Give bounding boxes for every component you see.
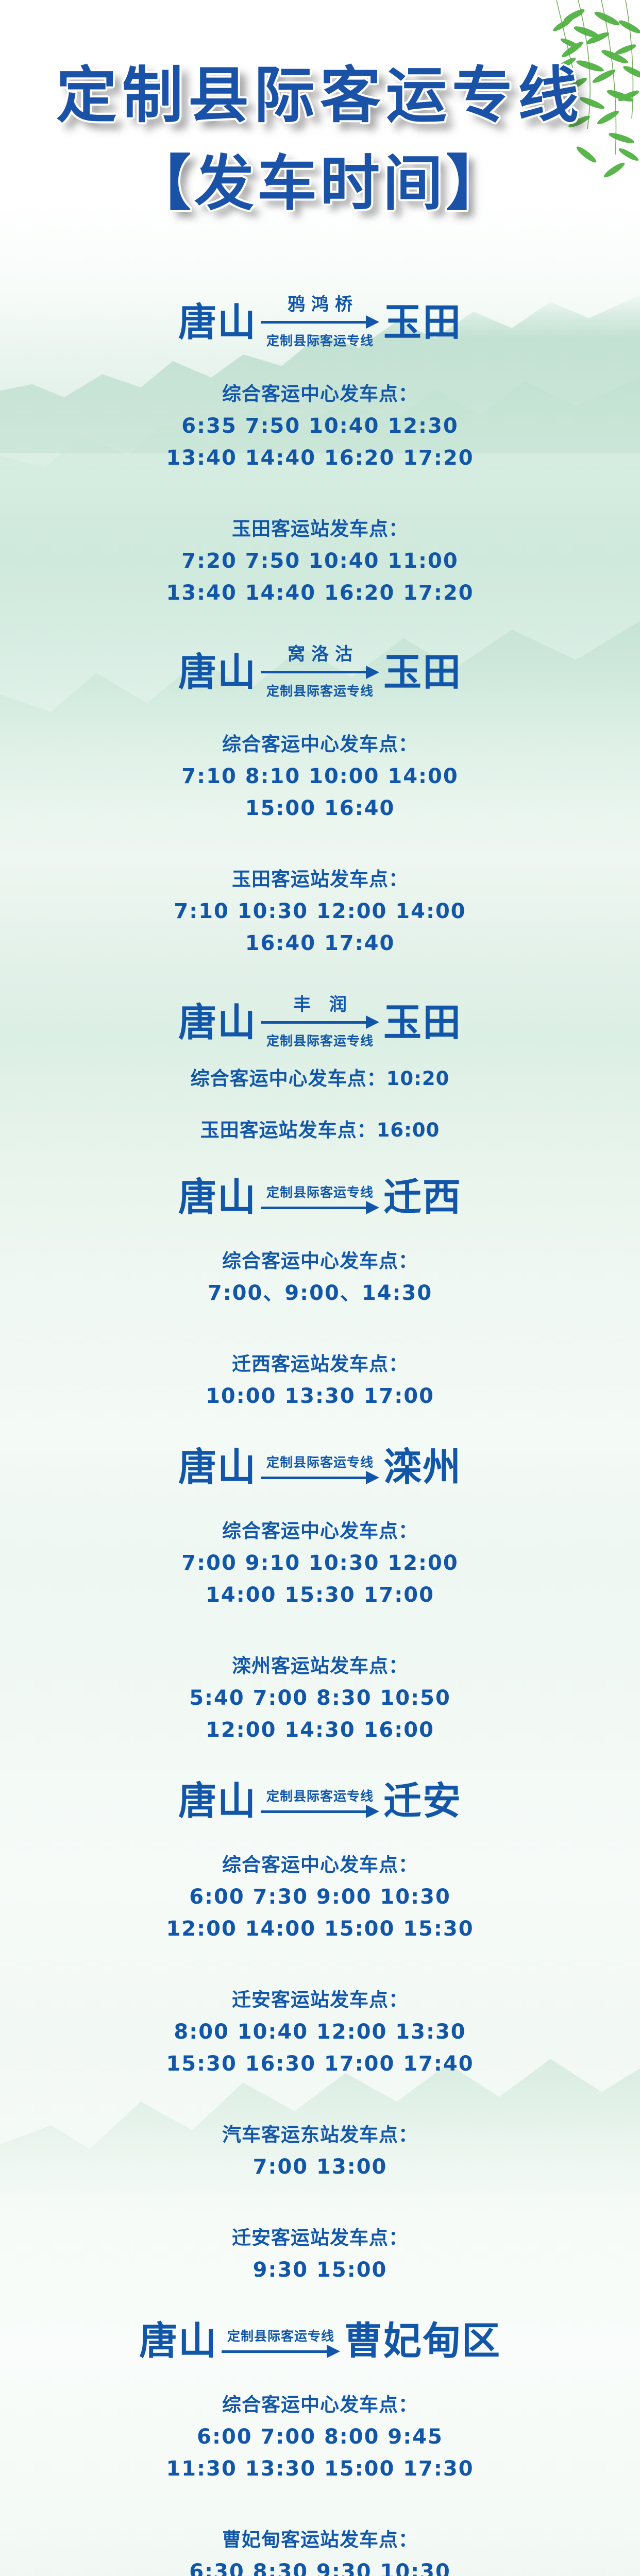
departure-times-row: 5:40 7:00 8:30 10:50 bbox=[0, 1682, 640, 1714]
departure-times: 10:00 13:30 17:00 bbox=[0, 1380, 640, 1412]
departure-times-row: 6:00 7:30 9:00 10:30 bbox=[0, 1881, 640, 1913]
departure-time: 10:20 bbox=[386, 1067, 450, 1090]
departure-point-label: 综合客运中心发车点： bbox=[0, 378, 640, 406]
route-header: 唐山窝洛沽定制县际客运专线玉田 bbox=[0, 645, 640, 699]
departure-point-label: 综合客运中心发车点： bbox=[0, 1245, 640, 1273]
departure-point-label: 滦州客运站发车点： bbox=[0, 1650, 640, 1678]
route-destination: 滦州 bbox=[383, 1448, 462, 1486]
route-via-name: 丰 润 bbox=[287, 995, 353, 1014]
departure-times-row: 7:10 10:30 12:00 14:00 bbox=[0, 895, 640, 927]
departure-times-row: 7:20 7:50 10:40 11:00 bbox=[0, 545, 640, 577]
route-origin: 唐山 bbox=[178, 1448, 257, 1486]
route-tagline: 定制县际客运专线 bbox=[266, 331, 374, 349]
route-tagline: 定制县际客运专线 bbox=[266, 1031, 374, 1049]
departure-times: 6:00 7:30 9:00 10:3012:00 14:00 15:00 15… bbox=[0, 1881, 640, 1945]
departure-times-row: 15:00 16:40 bbox=[0, 792, 640, 824]
poster-root: 定制县际客运专线 【发车时间】 唐山鸦鸿桥定制县际客运专线玉田综合客运中心发车点… bbox=[0, 0, 640, 2576]
route-origin: 唐山 bbox=[178, 653, 257, 691]
departure-point-label: 玉田客运站发车点： bbox=[200, 1119, 377, 1141]
departure-times-row: 11:30 13:30 15:00 17:30 bbox=[0, 2453, 640, 2485]
departure-times: 8:00 10:40 12:00 13:3015:30 16:30 17:00 … bbox=[0, 2016, 640, 2080]
departure-times-row: 7:10 8:10 10:00 14:00 bbox=[0, 760, 640, 792]
route-destination: 迁安 bbox=[383, 1782, 462, 1820]
route-arrow-icon bbox=[261, 1201, 379, 1214]
departure-point-inline: 玉田客运站发车点：16:00 bbox=[0, 1114, 640, 1142]
route-section: 唐山丰 润定制县际客运专线玉田综合客运中心发车点：10:20玉田客运站发车点：1… bbox=[0, 995, 640, 1178]
route-origin: 唐山 bbox=[139, 2322, 217, 2360]
departure-times-row: 10:00 13:30 17:00 bbox=[0, 1380, 640, 1412]
departure-point-label: 综合客运中心发车点： bbox=[191, 1067, 386, 1090]
page-title: 定制县际客运专线 bbox=[0, 61, 640, 131]
route-via-block: 定制县际客运专线 bbox=[261, 1450, 379, 1484]
departure-times-row: 12:00 14:00 15:00 15:30 bbox=[0, 1913, 640, 1945]
route-destination: 玉田 bbox=[383, 1004, 462, 1042]
departure-times-row: 13:40 14:40 16:20 17:20 bbox=[0, 577, 640, 609]
departure-times: 7:20 7:50 10:40 11:0013:40 14:40 16:20 1… bbox=[0, 545, 640, 609]
route-section: 唐山定制县际客运专线曹妃甸区综合客运中心发车点：6:00 7:00 8:00 9… bbox=[0, 2322, 640, 2576]
departure-times-row: 9:30 15:00 bbox=[0, 2254, 640, 2286]
route-tagline: 定制县际客运专线 bbox=[266, 1452, 374, 1471]
departure-times-row: 6:35 7:50 10:40 12:30 bbox=[0, 410, 640, 442]
departure-times-row: 16:40 17:40 bbox=[0, 927, 640, 959]
route-header: 唐山丰 润定制县际客运专线玉田 bbox=[0, 995, 640, 1049]
route-list: 唐山鸦鸿桥定制县际客运专线玉田综合客运中心发车点：6:35 7:50 10:40… bbox=[0, 295, 640, 2576]
route-via-block: 鸦鸿桥定制县际客运专线 bbox=[261, 295, 379, 349]
route-destination: 玉田 bbox=[383, 653, 462, 691]
route-tagline: 定制县际客运专线 bbox=[266, 1182, 374, 1201]
departure-point-label: 玉田客运站发车点： bbox=[0, 513, 640, 541]
route-header: 唐山定制县际客运专线曹妃甸区 bbox=[0, 2322, 640, 2360]
poster-header: 定制县际客运专线 【发车时间】 bbox=[0, 0, 640, 218]
departure-times-row: 6:30 8:30 9:30 10:30 bbox=[0, 2556, 640, 2576]
route-arrow-icon bbox=[261, 1805, 379, 1818]
route-tagline: 定制县际客运专线 bbox=[266, 681, 374, 700]
departure-times: 5:40 7:00 8:30 10:5012:00 14:30 16:00 bbox=[0, 1682, 640, 1746]
route-destination: 曹妃甸区 bbox=[344, 2322, 501, 2360]
departure-times: 7:00、9:00、14:30 bbox=[0, 1277, 640, 1309]
route-via-block: 窝洛沽定制县际客运专线 bbox=[261, 645, 379, 699]
departure-point-label: 迁西客运站发车点： bbox=[0, 1348, 640, 1376]
departure-point-label: 迁安客运站发车点： bbox=[0, 1984, 640, 2012]
route-via-name: 窝洛沽 bbox=[281, 645, 359, 664]
departure-point-label: 综合客运中心发车点： bbox=[0, 1515, 640, 1543]
route-arrow-icon bbox=[261, 666, 379, 679]
departure-times-row: 13:40 14:40 16:20 17:20 bbox=[0, 442, 640, 474]
route-section: 唐山定制县际客运专线迁西综合客运中心发车点：7:00、9:00、14:30迁西客… bbox=[0, 1178, 640, 1448]
departure-times: 7:10 8:10 10:00 14:0015:00 16:40 bbox=[0, 760, 640, 824]
departure-time: 16:00 bbox=[377, 1119, 440, 1141]
route-destination: 迁西 bbox=[383, 1178, 462, 1216]
departure-point-label: 汽车客运东站发车点： bbox=[0, 2119, 640, 2147]
route-tagline: 定制县际客运专线 bbox=[227, 2326, 334, 2345]
route-section: 唐山定制县际客运专线滦州综合客运中心发车点：7:00 9:10 10:30 12… bbox=[0, 1448, 640, 1782]
departure-point-label: 综合客运中心发车点： bbox=[0, 2389, 640, 2417]
departure-times: 6:00 7:00 8:00 9:4511:30 13:30 15:00 17:… bbox=[0, 2421, 640, 2485]
departure-times-row: 12:00 14:30 16:00 bbox=[0, 1714, 640, 1746]
departure-times-row: 15:30 16:30 17:00 17:40 bbox=[0, 2048, 640, 2080]
route-header: 唐山定制县际客运专线滦州 bbox=[0, 1448, 640, 1486]
route-via-block: 定制县际客运专线 bbox=[261, 1784, 379, 1818]
route-via-block: 定制县际客运专线 bbox=[222, 2324, 340, 2358]
departure-times-row: 7:00 9:10 10:30 12:00 bbox=[0, 1547, 640, 1579]
page-subtitle: 【发车时间】 bbox=[0, 149, 640, 218]
route-section: 唐山窝洛沽定制县际客运专线玉田综合客运中心发车点：7:10 8:10 10:00… bbox=[0, 645, 640, 995]
route-arrow-icon bbox=[261, 1015, 379, 1029]
departure-times: 9:30 15:00 bbox=[0, 2254, 640, 2286]
route-arrow-icon bbox=[222, 2345, 340, 2358]
departure-times-row: 7:00 13:00 bbox=[0, 2151, 640, 2183]
departure-times-row: 6:00 7:00 8:00 9:45 bbox=[0, 2421, 640, 2453]
departure-times: 6:35 7:50 10:40 12:3013:40 14:40 16:20 1… bbox=[0, 410, 640, 474]
departure-point-label: 玉田客运站发车点： bbox=[0, 863, 640, 891]
departure-times-row: 14:00 15:30 17:00 bbox=[0, 1579, 640, 1611]
route-origin: 唐山 bbox=[178, 1782, 257, 1820]
route-arrow-icon bbox=[261, 315, 379, 329]
route-section: 唐山鸦鸿桥定制县际客运专线玉田综合客运中心发车点：6:35 7:50 10:40… bbox=[0, 295, 640, 645]
departure-point-inline: 综合客运中心发车点：10:20 bbox=[0, 1063, 640, 1091]
departure-times: 6:30 8:30 9:30 10:3014:00 15:00 16:00 17… bbox=[0, 2556, 640, 2576]
departure-times: 7:10 10:30 12:00 14:0016:40 17:40 bbox=[0, 895, 640, 959]
departure-times: 7:00 13:00 bbox=[0, 2151, 640, 2183]
route-header: 唐山定制县际客运专线迁安 bbox=[0, 1782, 640, 1820]
departure-times-row: 7:00、9:00、14:30 bbox=[0, 1277, 640, 1309]
departure-point-label: 综合客运中心发车点： bbox=[0, 1849, 640, 1877]
departure-point-label: 综合客运中心发车点： bbox=[0, 728, 640, 756]
route-via-block: 定制县际客运专线 bbox=[261, 1180, 379, 1214]
departure-times: 7:00 9:10 10:30 12:0014:00 15:30 17:00 bbox=[0, 1547, 640, 1611]
departure-times-row: 8:00 10:40 12:00 13:30 bbox=[0, 2016, 640, 2048]
route-header: 唐山鸦鸿桥定制县际客运专线玉田 bbox=[0, 295, 640, 349]
route-via-block: 丰 润定制县际客运专线 bbox=[261, 995, 379, 1049]
route-arrow-icon bbox=[261, 1471, 379, 1484]
route-via-name: 鸦鸿桥 bbox=[281, 295, 359, 314]
departure-point-label: 曹妃甸客运站发车点： bbox=[0, 2524, 640, 2552]
route-tagline: 定制县际客运专线 bbox=[266, 1786, 374, 1805]
route-destination: 玉田 bbox=[383, 303, 462, 342]
route-origin: 唐山 bbox=[178, 303, 257, 342]
route-origin: 唐山 bbox=[178, 1178, 257, 1216]
departure-point-label: 迁安客运站发车点： bbox=[0, 2222, 640, 2250]
route-header: 唐山定制县际客运专线迁西 bbox=[0, 1178, 640, 1216]
route-origin: 唐山 bbox=[178, 1004, 257, 1042]
route-section: 唐山定制县际客运专线迁安综合客运中心发车点：6:00 7:30 9:00 10:… bbox=[0, 1782, 640, 2322]
